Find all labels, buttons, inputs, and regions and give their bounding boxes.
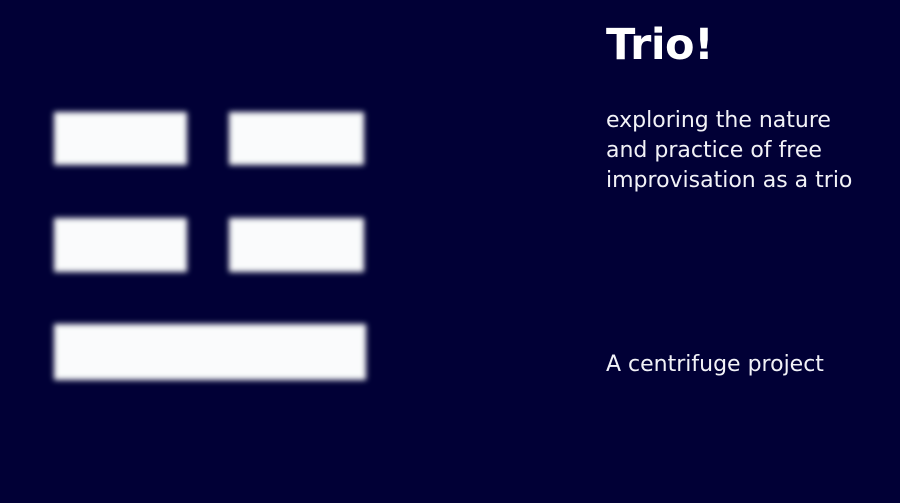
slide-footnote: A centrifuge project [606, 350, 876, 380]
logo-bar-row1-left [54, 112, 187, 165]
abstract-bars-logo [54, 112, 366, 380]
text-column: Trio! exploring the nature and practice … [606, 0, 876, 503]
slide-canvas: Trio! exploring the nature and practice … [0, 0, 900, 503]
slide-title: Trio! [606, 22, 713, 69]
slide-subtitle: exploring the nature and practice of fre… [606, 106, 870, 196]
logo-bar-row3-wide [54, 324, 366, 380]
logo-bar-row2-left [54, 218, 187, 272]
logo-bar-row1-right [229, 112, 364, 165]
logo-bar-row2-right [229, 218, 364, 272]
